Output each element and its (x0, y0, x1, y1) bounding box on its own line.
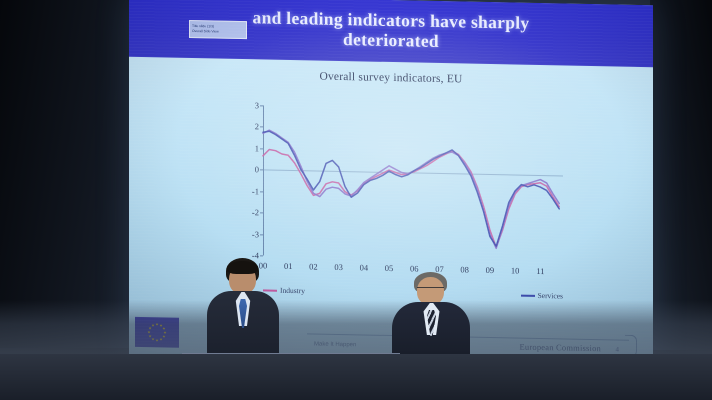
chart-x-tick-label: 11 (536, 266, 544, 276)
chart-series-industry (263, 147, 559, 248)
speaker-left-fringe (227, 261, 258, 274)
chart-y-tick-label: -2 (252, 207, 259, 217)
chart-y-tick-mark (260, 255, 263, 256)
chart-x-tick-label: 02 (309, 261, 318, 271)
chart-y-tick-label: 1 (255, 143, 259, 153)
speaker-right (392, 272, 470, 364)
legend-swatch-services (521, 294, 535, 296)
room-wall-left (0, 0, 140, 348)
chart-x-tick-label: 09 (486, 265, 495, 275)
chart-series-services (263, 131, 559, 247)
chart-title: Overall survey indicators, EU (129, 67, 653, 90)
legend-item-services: Services (521, 291, 563, 301)
chart-y-tick-label: -1 (252, 186, 259, 196)
chart-y-tick-label: 2 (255, 122, 259, 132)
chart-x-tick-label: 04 (360, 262, 369, 272)
overlay-tag-line-2: Overall Side View (192, 29, 244, 35)
press-conference-scene: and leading indicators have sharply dete… (0, 0, 712, 400)
legend-label-industry: Industry (280, 286, 305, 296)
chart-x-tick-label: 01 (284, 261, 293, 271)
overlay-info-tag: Title slide (1/3) Overall Side View (189, 20, 247, 39)
room-wall-band (0, 300, 712, 360)
room-floor (0, 354, 712, 400)
slide-title-band: and leading indicators have sharply dete… (129, 0, 653, 67)
speaker-left (205, 258, 281, 364)
chart-plot-area (263, 105, 563, 261)
room-wall-right (650, 0, 712, 350)
chart-y-tick-label: -3 (252, 229, 259, 239)
chart-series-construction (263, 130, 559, 250)
slide-title-line-2: deteriorated (343, 30, 439, 52)
chart-y-tick-label: 0 (255, 165, 259, 175)
survey-indicators-chart: 3210-1-2-3-4000102030405060708091011 (263, 105, 563, 261)
chart-x-tick-label: 03 (334, 262, 343, 272)
chart-y-tick-label: 3 (255, 100, 259, 110)
speaker-right-glasses (417, 287, 444, 293)
chart-x-tick-label: 10 (511, 265, 520, 275)
